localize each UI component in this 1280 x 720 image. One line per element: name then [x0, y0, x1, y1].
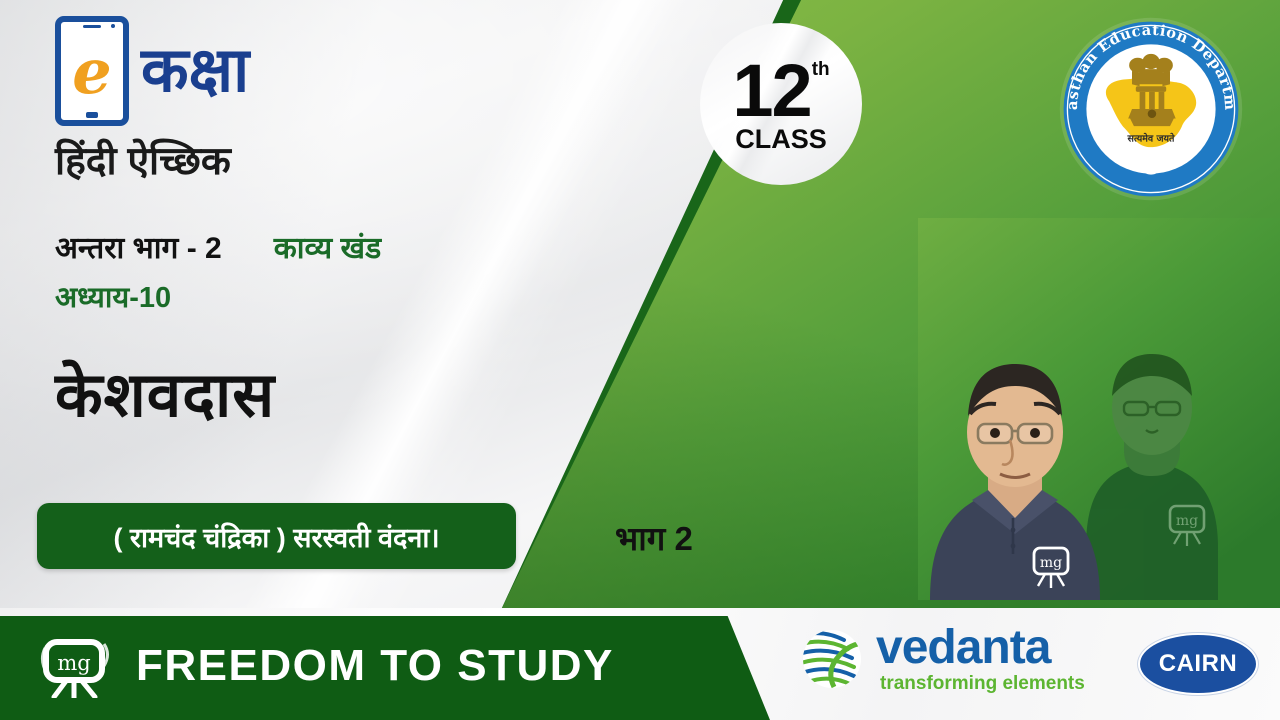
phone-home-button	[86, 112, 98, 118]
sponsor-vedanta: vedanta transforming elements	[800, 624, 1085, 693]
class-label: CLASS	[735, 124, 827, 155]
logo-letter-e: e	[72, 41, 111, 103]
logo-wordmark: कक्षा	[141, 40, 249, 102]
chapter-number: अध्याय-10	[55, 277, 171, 316]
section-name: काव्य खंड	[274, 226, 381, 267]
topic-text: ( रामचंद चंद्रिका ) सरस्वती वंदना।	[113, 518, 439, 555]
seal-motto: सत्यमेव जयते	[1127, 132, 1176, 144]
vedanta-tagline: transforming elements	[880, 674, 1085, 693]
sponsor-cairn: CAIRN	[1138, 633, 1258, 695]
vedanta-globe-icon	[800, 627, 864, 691]
vedanta-name: vedanta	[876, 624, 1085, 672]
phone-camera	[111, 24, 115, 28]
svg-text:mg: mg	[1176, 513, 1198, 529]
subject-heading: हिंदी ऐच्छिक	[55, 133, 231, 186]
page-title: केशवदास	[55, 351, 275, 435]
book-name: अन्तरा भाग - 2	[55, 226, 222, 267]
video-thumbnail: e कक्षा हिंदी ऐच्छिक अन्तरा भाग - 2 काव्…	[0, 0, 1280, 720]
topic-badge: ( रामचंद चंद्रिका ) सरस्वती वंदना।	[37, 503, 516, 569]
cairn-name: CAIRN	[1159, 650, 1238, 678]
ekaksha-logo: e कक्षा	[55, 16, 249, 126]
tagline-text: FREEDOM TO STUDY	[136, 641, 614, 691]
vedanta-wordmark: vedanta transforming elements	[876, 624, 1085, 693]
svg-text:mg: mg	[1040, 555, 1062, 571]
phone-speaker	[83, 25, 101, 28]
class-number-row: 12 th	[732, 54, 829, 128]
mg-easel-icon: mg	[40, 634, 114, 698]
part-label: भाग 2	[615, 515, 693, 560]
tagline-row: mg FREEDOM TO STUDY	[40, 634, 614, 698]
rajasthan-education-department-seal: सत्यमेव जयते ॐ Rajasthan Education Depar…	[1056, 14, 1246, 204]
class-number: 12	[732, 54, 810, 128]
smartphone-icon: e	[55, 16, 129, 126]
class-badge: 12 th CLASS	[700, 23, 862, 185]
footer-bar: mg FREEDOM TO STUDY	[0, 608, 1280, 720]
class-ordinal-suffix: th	[812, 60, 830, 79]
book-section-row: अन्तरा भाग - 2 काव्य खंड	[55, 226, 381, 267]
mg-monogram: mg	[57, 651, 90, 675]
svg-text:ॐ: ॐ	[1145, 157, 1156, 171]
presenters-photo: mg	[918, 218, 1280, 600]
